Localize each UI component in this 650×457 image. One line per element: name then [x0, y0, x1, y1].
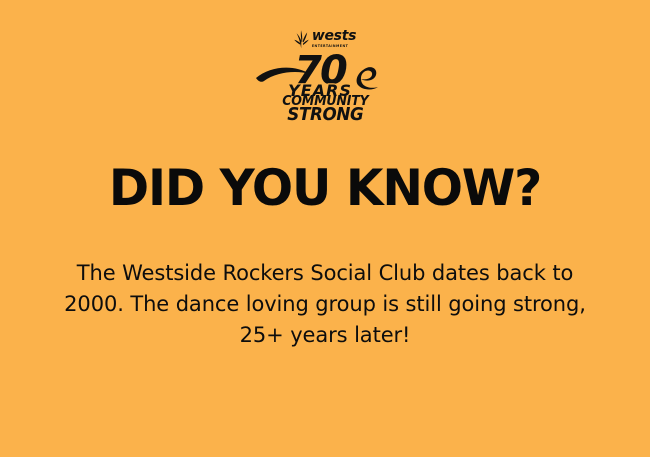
wests-wordmark: wests entertainment	[294, 28, 356, 49]
feather-icon	[294, 29, 309, 49]
wests-brand-subtext: entertainment	[312, 45, 348, 48]
body-line-1: The Westside Rockers Social Club dates b…	[50, 258, 600, 289]
seventy-years-lockup: 70 YEARS	[250, 50, 400, 95]
body-line-3: 25+ years later!	[50, 320, 600, 351]
tagline-line-2: STRONG	[282, 107, 368, 124]
wests-brand-text: wests	[312, 29, 356, 43]
wests-70-years-logo: wests entertainment 70 YEARS COMMUNITY S…	[0, 28, 650, 124]
wests-wordmark-text: wests entertainment	[312, 29, 356, 48]
page-title: DID YOU KNOW?	[10, 160, 641, 216]
body-line-2: 2000. The dance loving group is still go…	[50, 289, 600, 320]
body-copy: The Westside Rockers Social Club dates b…	[50, 258, 600, 351]
did-you-know-poster: wests entertainment 70 YEARS COMMUNITY S…	[0, 0, 650, 457]
community-strong-tagline: COMMUNITY STRONG	[279, 95, 372, 124]
